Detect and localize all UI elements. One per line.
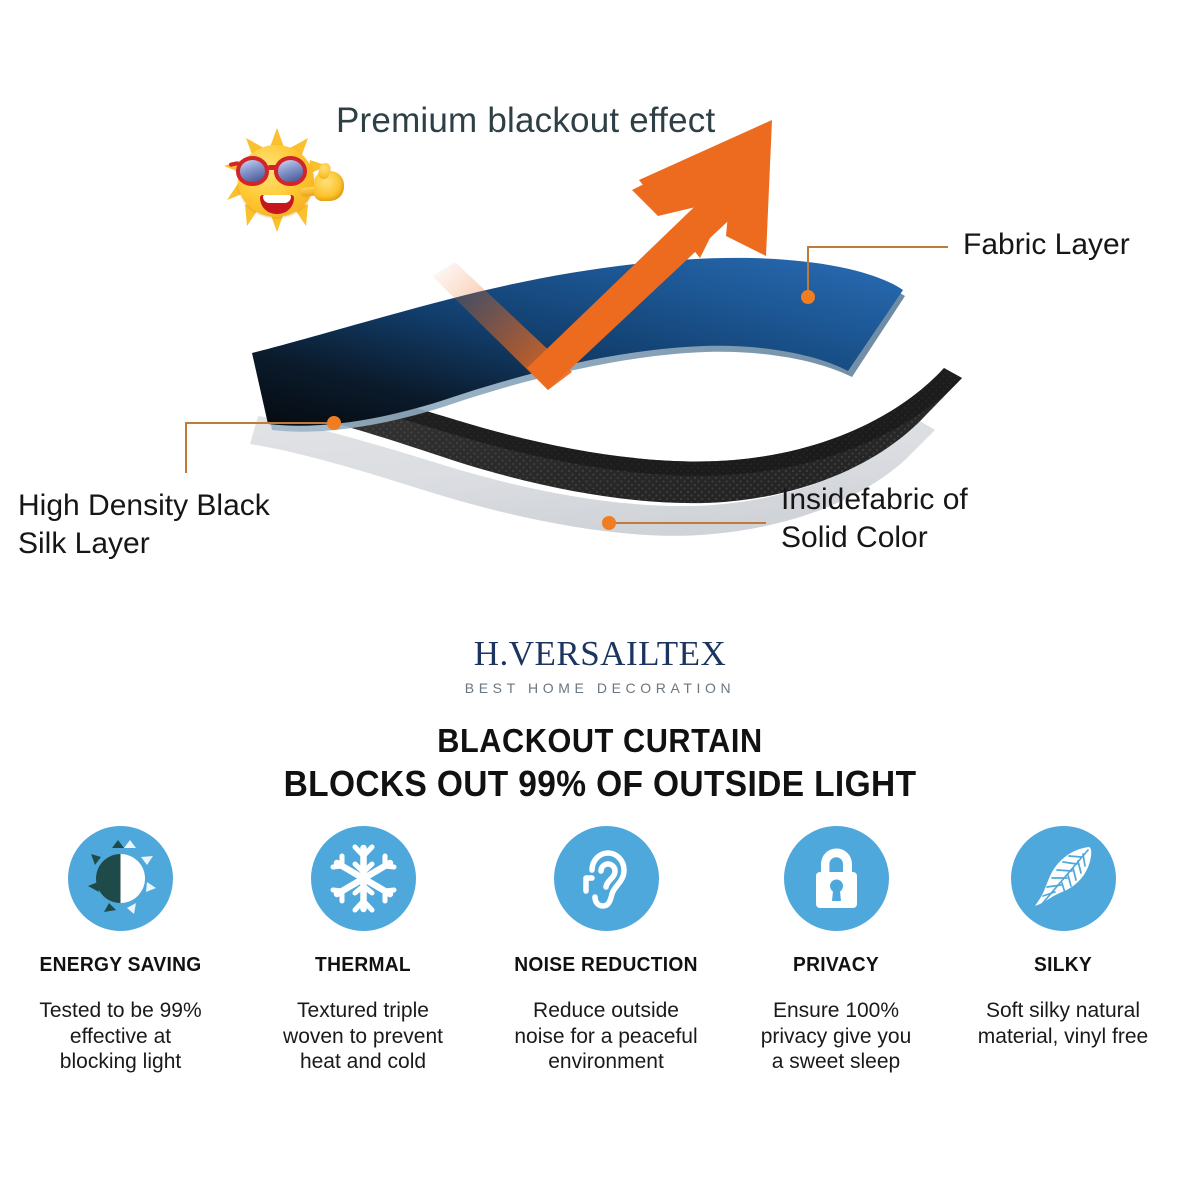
feature-desc-line: effective at xyxy=(8,1024,233,1050)
feature-desc-line: Textured triple xyxy=(252,998,474,1024)
padlock-icon xyxy=(784,826,889,931)
thumbs-up-icon xyxy=(314,171,344,201)
feature-title: ENERGY SAVING xyxy=(13,954,229,977)
callout-label-silk-layer: High Density Black Silk Layer xyxy=(18,487,348,564)
brand-logo: H.VERSAILTEX BEST HOME DECORATION xyxy=(0,636,1200,696)
sun-with-sunglasses-icon xyxy=(214,125,344,235)
feature-title: PRIVACY xyxy=(742,954,930,977)
feature-title: NOISE REDUCTION xyxy=(495,954,718,977)
feature-desc-line: Tested to be 99% xyxy=(8,998,233,1024)
hero-illustration: Premium blackout effect Fabric Layer Hig… xyxy=(0,0,1200,610)
infographic-page: Premium blackout effect Fabric Layer Hig… xyxy=(0,0,1200,1200)
feature-desc-line: environment xyxy=(490,1049,722,1075)
feature-thermal: THERMAL Textured triple woven to prevent… xyxy=(252,826,474,1075)
feature-description: Textured triple woven to prevent heat an… xyxy=(252,998,474,1075)
brand-tagline: BEST HOME DECORATION xyxy=(0,680,1200,696)
dot-inside-fabric xyxy=(602,516,616,530)
feature-icon-badge xyxy=(68,826,173,931)
callout-silk-line2: Silk Layer xyxy=(18,525,348,563)
feature-title: THERMAL xyxy=(256,954,469,977)
feature-noise-reduction: NOISE REDUCTION Reduce outside noise for… xyxy=(490,826,722,1075)
ear-icon xyxy=(554,826,659,931)
dot-silk-layer xyxy=(327,416,341,430)
feature-desc-line: Soft silky natural xyxy=(952,998,1174,1024)
snowflake-icon xyxy=(311,826,416,931)
feature-icon-badge xyxy=(554,826,659,931)
feature-icon-badge xyxy=(311,826,416,931)
feature-privacy: PRIVACY Ensure 100% privacy give you a s… xyxy=(738,826,934,1075)
feature-row: ENERGY SAVING Tested to be 99% effective… xyxy=(0,826,1200,1126)
callout-silk-line1: High Density Black xyxy=(18,487,348,525)
feature-description: Ensure 100% privacy give you a sweet sle… xyxy=(738,998,934,1075)
sunglasses-icon xyxy=(236,153,318,191)
dot-fabric-layer xyxy=(801,290,815,304)
page-title-line1: BLACKOUT CURTAIN xyxy=(42,722,1158,760)
feature-desc-line: Ensure 100% xyxy=(738,998,934,1024)
feature-icon-badge xyxy=(1011,826,1116,931)
callout-inside-line2: Solid Color xyxy=(781,519,1051,557)
callout-inside-line1: Insidefabric of xyxy=(781,481,1051,519)
feature-energy-saving: ENERGY SAVING Tested to be 99% effective… xyxy=(8,826,233,1075)
half-sun-energy-icon xyxy=(68,826,173,931)
page-title: BLACKOUT CURTAIN BLOCKS OUT 99% OF OUTSI… xyxy=(0,722,1200,805)
feature-silky: SILKY Soft silky natural material, vinyl… xyxy=(952,826,1174,1049)
page-title-line2: BLOCKS OUT 99% OF OUTSIDE LIGHT xyxy=(42,763,1158,805)
feature-desc-line: blocking light xyxy=(8,1049,233,1075)
feature-desc-line: privacy give you xyxy=(738,1024,934,1050)
feature-icon-badge xyxy=(784,826,889,931)
callout-label-fabric-layer: Fabric Layer xyxy=(963,226,1130,264)
feature-desc-line: noise for a peaceful xyxy=(490,1024,722,1050)
feather-icon xyxy=(1011,826,1116,931)
feature-desc-line: woven to prevent xyxy=(252,1024,474,1050)
feature-description: Soft silky natural material, vinyl free xyxy=(952,998,1174,1049)
feature-desc-line: heat and cold xyxy=(252,1049,474,1075)
brand-name: H.VERSAILTEX xyxy=(0,636,1200,671)
premium-blackout-effect-title: Premium blackout effect xyxy=(336,101,715,141)
feature-desc-line: Reduce outside xyxy=(490,998,722,1024)
feature-desc-line: material, vinyl free xyxy=(952,1024,1174,1050)
feature-description: Reduce outside noise for a peaceful envi… xyxy=(490,998,722,1075)
feature-description: Tested to be 99% effective at blocking l… xyxy=(8,998,233,1075)
feature-desc-line: a sweet sleep xyxy=(738,1049,934,1075)
feature-title: SILKY xyxy=(956,954,1169,977)
callout-label-inside-fabric: Insidefabric of Solid Color xyxy=(781,481,1051,558)
